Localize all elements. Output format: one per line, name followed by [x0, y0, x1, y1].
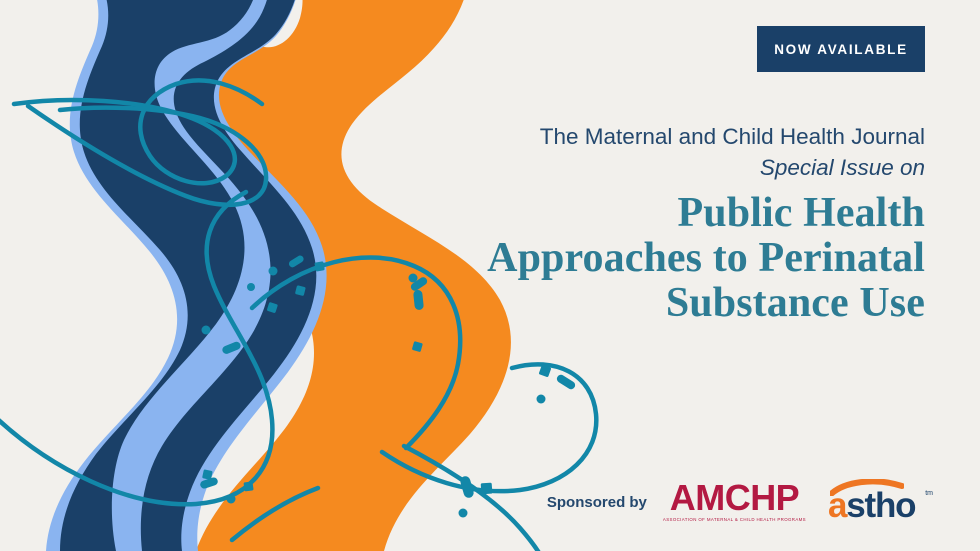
title-line-3: Substance Use — [305, 281, 925, 326]
journal-name: The Maternal and Child Health Journal — [305, 122, 925, 152]
special-issue-label: Special Issue on — [305, 152, 925, 184]
astho-wordmark-rest: stho — [846, 486, 915, 525]
amchp-logo: AMCHP ASSOCIATION OF MATERNAL & CHILD HE… — [663, 481, 806, 522]
sponsored-by-label: Sponsored by — [547, 494, 647, 511]
headline-block: The Maternal and Child Health Journal Sp… — [305, 122, 925, 326]
now-available-badge: NOW AVAILABLE — [757, 26, 925, 72]
title-line-2: Approaches to Perinatal — [305, 236, 925, 281]
promotional-graphic: NOW AVAILABLE The Maternal and Child Hea… — [0, 0, 980, 551]
astho-wordmark: astho — [828, 488, 915, 523]
astho-trademark-symbol: tm — [925, 490, 933, 497]
title-line-1: Public Health — [305, 191, 925, 236]
badge-label: NOW AVAILABLE — [774, 42, 908, 57]
astho-wordmark-accent: a — [828, 486, 846, 525]
amchp-wordmark: AMCHP — [670, 481, 800, 515]
amchp-tagline: ASSOCIATION OF MATERNAL & CHILD HEALTH P… — [663, 518, 806, 522]
astho-logo: astho tm — [828, 479, 932, 525]
page-title: Public Health Approaches to Perinatal Su… — [305, 191, 925, 326]
sponsor-row: Sponsored by AMCHP ASSOCIATION OF MATERN… — [547, 479, 932, 525]
